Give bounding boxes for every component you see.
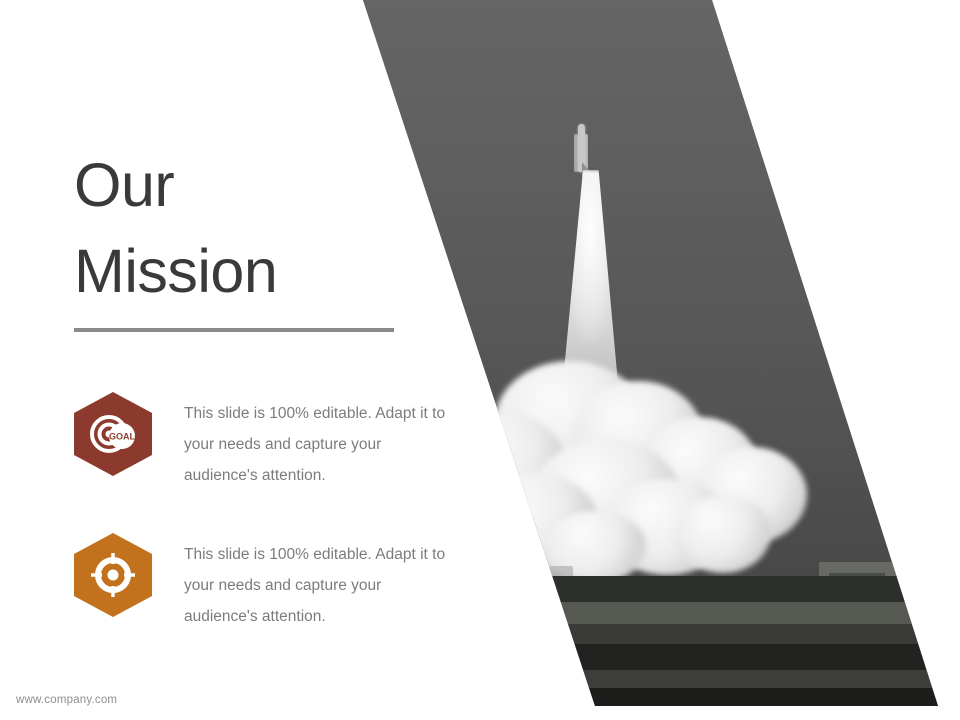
launch-gantry [819,562,897,577]
goal-icon-label: GOAL [109,432,136,442]
goal-target-icon[interactable]: GOAL [74,392,152,476]
page-title: Our Mission [74,142,404,332]
slide-canvas: Our Mission GOAL This slide is 100% edit… [0,0,960,720]
space-shuttle-icon [573,124,589,176]
crosshair-target-icon[interactable] [74,533,152,617]
bullet-list: GOAL This slide is 100% editable. Adapt … [74,392,474,674]
title-underline-rule [74,328,394,332]
title-line-1: Our [74,142,404,228]
footer-website[interactable]: www.company.com [16,694,117,706]
title-line-2: Mission [74,228,404,314]
list-item[interactable]: This slide is 100% editable. Adapt it to… [74,533,474,632]
list-item[interactable]: GOAL This slide is 100% editable. Adapt … [74,392,474,491]
list-item-text: This slide is 100% editable. Adapt it to… [184,533,456,632]
list-item-text: This slide is 100% editable. Adapt it to… [184,392,456,491]
